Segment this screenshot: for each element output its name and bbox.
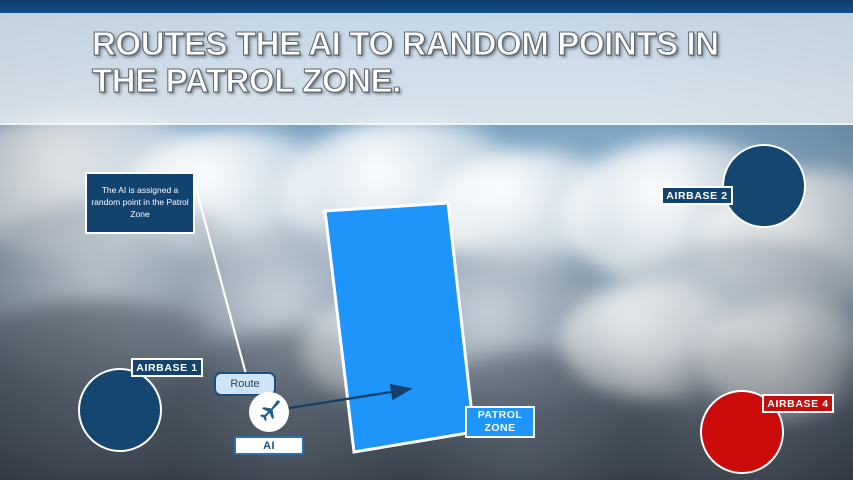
ai-assignment-callout: The AI is assigned a random point in the… bbox=[85, 172, 195, 234]
airbase-4-label[interactable]: AIRBASE 4 bbox=[762, 394, 834, 413]
airbase-1-label[interactable]: AIRBASE 1 bbox=[131, 358, 203, 377]
airbase-1-marker[interactable] bbox=[78, 368, 162, 452]
callout-leader-line bbox=[196, 188, 247, 378]
patrol-zone-label-line2: ZONE bbox=[484, 422, 515, 435]
patrol-zone-label-line1: PATROL bbox=[478, 409, 523, 422]
ai-aircraft-marker[interactable] bbox=[249, 392, 289, 432]
patrol-zone-shape[interactable] bbox=[325, 203, 474, 452]
ai-label[interactable]: AI bbox=[234, 436, 304, 455]
airbase-2-label[interactable]: AIRBASE 2 bbox=[661, 186, 733, 205]
presentation-slide: ROUTES THE AI TO RANDOM POINTS IN THE PA… bbox=[0, 0, 853, 480]
callout-text: The AI is assigned a random point in the… bbox=[89, 185, 191, 220]
patrol-zone-label[interactable]: PATROL ZONE bbox=[465, 406, 535, 438]
fighter-jet-icon bbox=[255, 398, 283, 426]
airbase-2-marker[interactable] bbox=[722, 144, 806, 228]
